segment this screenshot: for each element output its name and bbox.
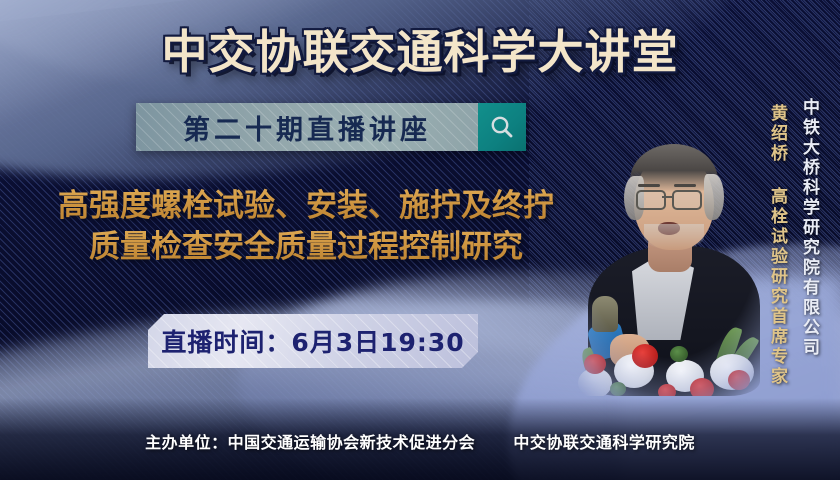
- episode-banner-label: 第二十期直播讲座: [183, 108, 431, 147]
- speaker-organization: 中铁大桥科学研究院有限公司: [797, 98, 822, 358]
- search-icon[interactable]: [478, 103, 526, 151]
- broadcast-time-box: 直播时间：6月3日19:30: [148, 314, 478, 368]
- episode-banner-body: 第二十期直播讲座: [136, 103, 478, 151]
- footer-organizer: 主办单位：中国交通运输协会新技术促进分会: [145, 433, 475, 452]
- speaker-eyebrow-right: [674, 184, 696, 187]
- speaker-glasses-bridge: [662, 196, 672, 198]
- flower-bouquet: [570, 324, 770, 396]
- lecture-headline: 高强度螺栓试验、安装、施拧及终拧 质量检查安全质量过程控制研究: [6, 186, 606, 268]
- speaker-beard: [644, 224, 704, 250]
- lecture-headline-line1: 高强度螺栓试验、安装、施拧及终拧: [6, 186, 606, 227]
- speaker-eyebrow-left: [638, 184, 660, 187]
- footer-institute: 中交协联交通科学研究院: [513, 433, 695, 452]
- speaker-name-title: 黄绍桥 高栓试验研究首席专家: [765, 104, 790, 387]
- lecture-headline-line2: 质量检查安全质量过程控制研究: [6, 227, 606, 268]
- broadcast-time-label: 直播时间：6月3日19:30: [161, 323, 464, 359]
- speaker-glasses-left: [636, 190, 666, 210]
- footer-organizers: 主办单位：中国交通运输协会新技术促进分会 中交协联交通科学研究院: [0, 429, 840, 453]
- speaker-glasses-right: [672, 190, 702, 210]
- live-lecture-poster: 中交协联交通科学大讲堂 第二十期直播讲座 高强度螺栓试验、安装、施拧及终拧 质量…: [0, 0, 840, 480]
- speaker-hair-right: [704, 174, 724, 220]
- episode-banner: 第二十期直播讲座: [136, 103, 526, 151]
- page-title: 中交协联交通科学大讲堂: [0, 16, 840, 82]
